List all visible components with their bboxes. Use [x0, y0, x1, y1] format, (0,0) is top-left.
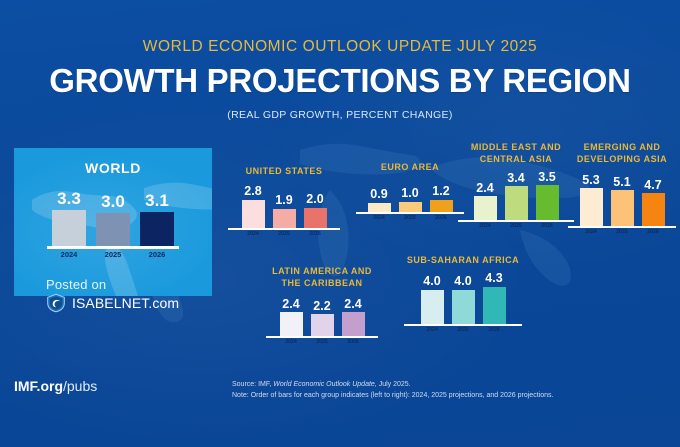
- year-label-2025: 2025: [269, 232, 300, 237]
- year-label-2024: 2024: [47, 251, 91, 259]
- bar-value-2024: 2.8: [244, 185, 261, 198]
- chart-emerging-developing-asia: 5.3 5.1 4.7: [568, 170, 676, 226]
- bar-value-2025: 3.4: [507, 172, 524, 185]
- bar-value-2026: 4.7: [644, 179, 661, 192]
- poster-header: WORLD ECONOMIC OUTLOOK UPDATE JULY 2025 …: [0, 38, 680, 121]
- world-bar-chart: 3.3 3.0 3.1 2024 2025 2026: [47, 188, 179, 258]
- bar-value-2024: 5.3: [582, 174, 599, 187]
- bar-2024: [580, 188, 603, 226]
- bar-col-2024: 3.3: [52, 190, 86, 246]
- year-label-2026: 2026: [479, 328, 510, 333]
- bar-2025: [273, 209, 296, 228]
- bar-value-2025: 3.0: [101, 193, 125, 210]
- bar-2026: [483, 287, 506, 324]
- bar-col-2026: 3.1: [140, 192, 174, 246]
- bar-2025: [611, 190, 634, 226]
- bar-value-2026: 2.4: [344, 298, 361, 311]
- bar-2026: [536, 185, 559, 220]
- bar-value-2024: 2.4: [476, 182, 493, 195]
- year-labels: 2024 2025 2026: [266, 340, 378, 345]
- year-label-2026: 2026: [426, 216, 457, 221]
- group-title-sub-saharan-africa: SUB-SAHARAN AFRICA: [404, 255, 522, 267]
- world-bars: 3.3 3.0 3.1: [47, 188, 179, 246]
- bar-col-2026: 2.0: [304, 193, 327, 228]
- posted-on-label: Posted on: [46, 277, 216, 292]
- bar-value-2026: 4.3: [485, 272, 502, 285]
- group-middle-east-central-asia: MIDDLE EAST AND CENTRAL ASIA 2.4 3.4 3.5…: [458, 142, 574, 229]
- axis-baseline: [228, 228, 340, 230]
- year-label-2024: 2024: [576, 230, 607, 235]
- bar-2026: [140, 212, 174, 246]
- bar-2025: [96, 213, 130, 246]
- bar-col-2024: 0.9: [368, 188, 391, 212]
- bar-value-2026: 2.0: [306, 193, 323, 206]
- year-labels: 2024 2025 2026: [404, 328, 522, 333]
- year-labels: 2024 2025 2026: [458, 224, 574, 229]
- bar-2026: [304, 208, 327, 228]
- bar-col-2026: 2.4: [342, 298, 365, 337]
- chart-united-states: 2.8 1.9 2.0: [228, 182, 340, 228]
- year-label-2025: 2025: [91, 251, 135, 259]
- group-sub-saharan-africa: SUB-SAHARAN AFRICA 4.0 4.0 4.3 2024 2025…: [404, 255, 522, 333]
- bar-value-2025: 1.0: [401, 187, 418, 200]
- bar-value-2024: 2.4: [282, 298, 299, 311]
- bar-2024: [474, 196, 497, 220]
- bar-col-2024: 4.0: [421, 275, 444, 324]
- axis-baseline: [458, 220, 574, 222]
- page-title: GROWTH PROJECTIONS BY REGION: [0, 62, 680, 100]
- year-label-2025: 2025: [448, 328, 479, 333]
- group-latin-america-caribbean: LATIN AMERICA AND THE CARIBBEAN 2.4 2.2 …: [266, 266, 378, 345]
- footnotes: Source: IMF, World Economic Outlook Upda…: [232, 379, 553, 401]
- bar-2025: [399, 202, 422, 212]
- year-labels: 2024 2025 2026: [228, 232, 340, 237]
- bar-value-2026: 3.5: [538, 171, 555, 184]
- bar-value-2024: 3.3: [57, 190, 81, 207]
- bar-col-2025: 5.1: [611, 176, 634, 227]
- year-label-2024: 2024: [238, 232, 269, 237]
- axis-baseline: [568, 226, 676, 228]
- bar-value-2024: 0.9: [370, 188, 387, 201]
- year-label-2024: 2024: [417, 328, 448, 333]
- bar-value-2026: 1.2: [432, 185, 449, 198]
- bar-col-2026: 4.3: [483, 272, 506, 324]
- imf-logo-light: /pubs: [63, 378, 97, 394]
- chart-latin-america-caribbean: 2.4 2.2 2.4: [266, 294, 378, 336]
- source-tail: July 2025.: [379, 381, 411, 388]
- group-euro-area: EURO AREA 0.9 1.0 1.2 2024 2025 2026: [356, 162, 464, 221]
- bar-col-2025: 1.9: [273, 194, 296, 228]
- bar-col-2025: 3.4: [505, 172, 528, 221]
- bar-value-2025: 4.0: [454, 275, 471, 288]
- subtitle-text: (REAL GDP GROWTH, PERCENT CHANGE): [0, 109, 680, 121]
- imf-logo-bold: IMF.org: [14, 378, 63, 394]
- axis-baseline: [356, 212, 464, 214]
- chart-euro-area: 0.9 1.0 1.2: [356, 178, 464, 212]
- bar-col-2025: 4.0: [452, 275, 475, 324]
- year-label-2025: 2025: [501, 224, 532, 229]
- group-title-emerging-developing-asia: EMERGING AND DEVELOPING ASIA: [568, 142, 676, 165]
- note-line: Note: Order of bars for each group indic…: [232, 390, 553, 401]
- bar-value-2025: 1.9: [275, 194, 292, 207]
- bar-2025: [452, 290, 475, 324]
- chart-sub-saharan-africa: 4.0 4.0 4.3: [404, 272, 522, 324]
- bar-col-2024: 5.3: [580, 174, 603, 227]
- year-label-2025: 2025: [607, 230, 638, 235]
- year-label-2025: 2025: [395, 216, 426, 221]
- year-labels: 2024 2025 2026: [356, 216, 464, 221]
- bar-col-2024: 2.8: [242, 185, 265, 228]
- note-label: Note:: [232, 392, 249, 399]
- group-emerging-developing-asia: EMERGING AND DEVELOPING ASIA 5.3 5.1 4.7…: [568, 142, 676, 235]
- group-title-latin-america-caribbean: LATIN AMERICA AND THE CARIBBEAN: [266, 266, 378, 289]
- axis-baseline: [266, 336, 378, 338]
- bar-2024: [421, 290, 444, 324]
- bar-value-2025: 2.2: [313, 300, 330, 313]
- axis-baseline: [47, 246, 179, 249]
- bar-col-2024: 2.4: [280, 298, 303, 337]
- year-labels: 2024 2025 2026: [47, 251, 179, 259]
- bar-col-2026: 3.5: [536, 171, 559, 221]
- bar-value-2024: 4.0: [423, 275, 440, 288]
- world-panel-title: WORLD: [14, 148, 212, 176]
- bar-2026: [430, 200, 453, 212]
- bar-col-2025: 1.0: [399, 187, 422, 212]
- bar-value-2025: 5.1: [613, 176, 630, 189]
- infographic-poster: WORLD ECONOMIC OUTLOOK UPDATE JULY 2025 …: [0, 0, 680, 447]
- year-label-2025: 2025: [307, 340, 338, 345]
- bar-col-2025: 3.0: [96, 193, 130, 246]
- source-plain: IMF,: [258, 381, 271, 388]
- bar-2024: [52, 210, 86, 246]
- bar-value-2026: 3.1: [145, 192, 169, 209]
- year-label-2024: 2024: [276, 340, 307, 345]
- group-title-middle-east-central-asia: MIDDLE EAST AND CENTRAL ASIA: [458, 142, 574, 165]
- bar-col-2026: 1.2: [430, 185, 453, 212]
- watermark-row: ISABELNET.com: [46, 293, 216, 313]
- group-title-united-states: UNITED STATES: [228, 166, 340, 178]
- year-label-2024: 2024: [470, 224, 501, 229]
- note-text: Order of bars for each group indicates (…: [251, 392, 554, 399]
- source-label: Source:: [232, 381, 256, 388]
- year-label-2026: 2026: [135, 251, 179, 259]
- imf-pubs-logo[interactable]: IMF.org/pubs: [14, 378, 97, 394]
- bar-2024: [280, 312, 303, 336]
- source-italic: World Economic Outlook Update,: [273, 381, 377, 388]
- chart-middle-east-central-asia: 2.4 3.4 3.5: [458, 170, 574, 220]
- kicker-text: WORLD ECONOMIC OUTLOOK UPDATE JULY 2025: [0, 38, 680, 56]
- source-line: Source: IMF, World Economic Outlook Upda…: [232, 379, 553, 390]
- group-title-euro-area: EURO AREA: [356, 162, 464, 174]
- year-label-2026: 2026: [338, 340, 369, 345]
- bar-2025: [505, 186, 528, 220]
- year-label-2024: 2024: [364, 216, 395, 221]
- world-feature-panel: WORLD 3.3 3.0 3.1 2024 2025: [14, 148, 212, 296]
- isabelnet-watermark: Posted on ISABELNET.com: [46, 277, 216, 313]
- axis-baseline: [404, 324, 522, 326]
- bar-col-2024: 2.4: [474, 182, 497, 221]
- group-united-states: UNITED STATES 2.8 1.9 2.0 2024 2025 2026: [228, 166, 340, 237]
- bar-col-2026: 4.7: [642, 179, 665, 227]
- bar-2024: [242, 200, 265, 228]
- bar-2025: [311, 314, 334, 336]
- year-labels: 2024 2025 2026: [568, 230, 676, 235]
- year-label-2026: 2026: [638, 230, 669, 235]
- bar-2026: [642, 193, 665, 226]
- year-label-2026: 2026: [300, 232, 331, 237]
- shield-badge-icon: [46, 293, 66, 313]
- bar-col-2025: 2.2: [311, 300, 334, 337]
- bar-2026: [342, 312, 365, 336]
- bar-2024: [368, 203, 391, 212]
- year-label-2026: 2026: [532, 224, 563, 229]
- watermark-site: ISABELNET.com: [72, 295, 179, 311]
